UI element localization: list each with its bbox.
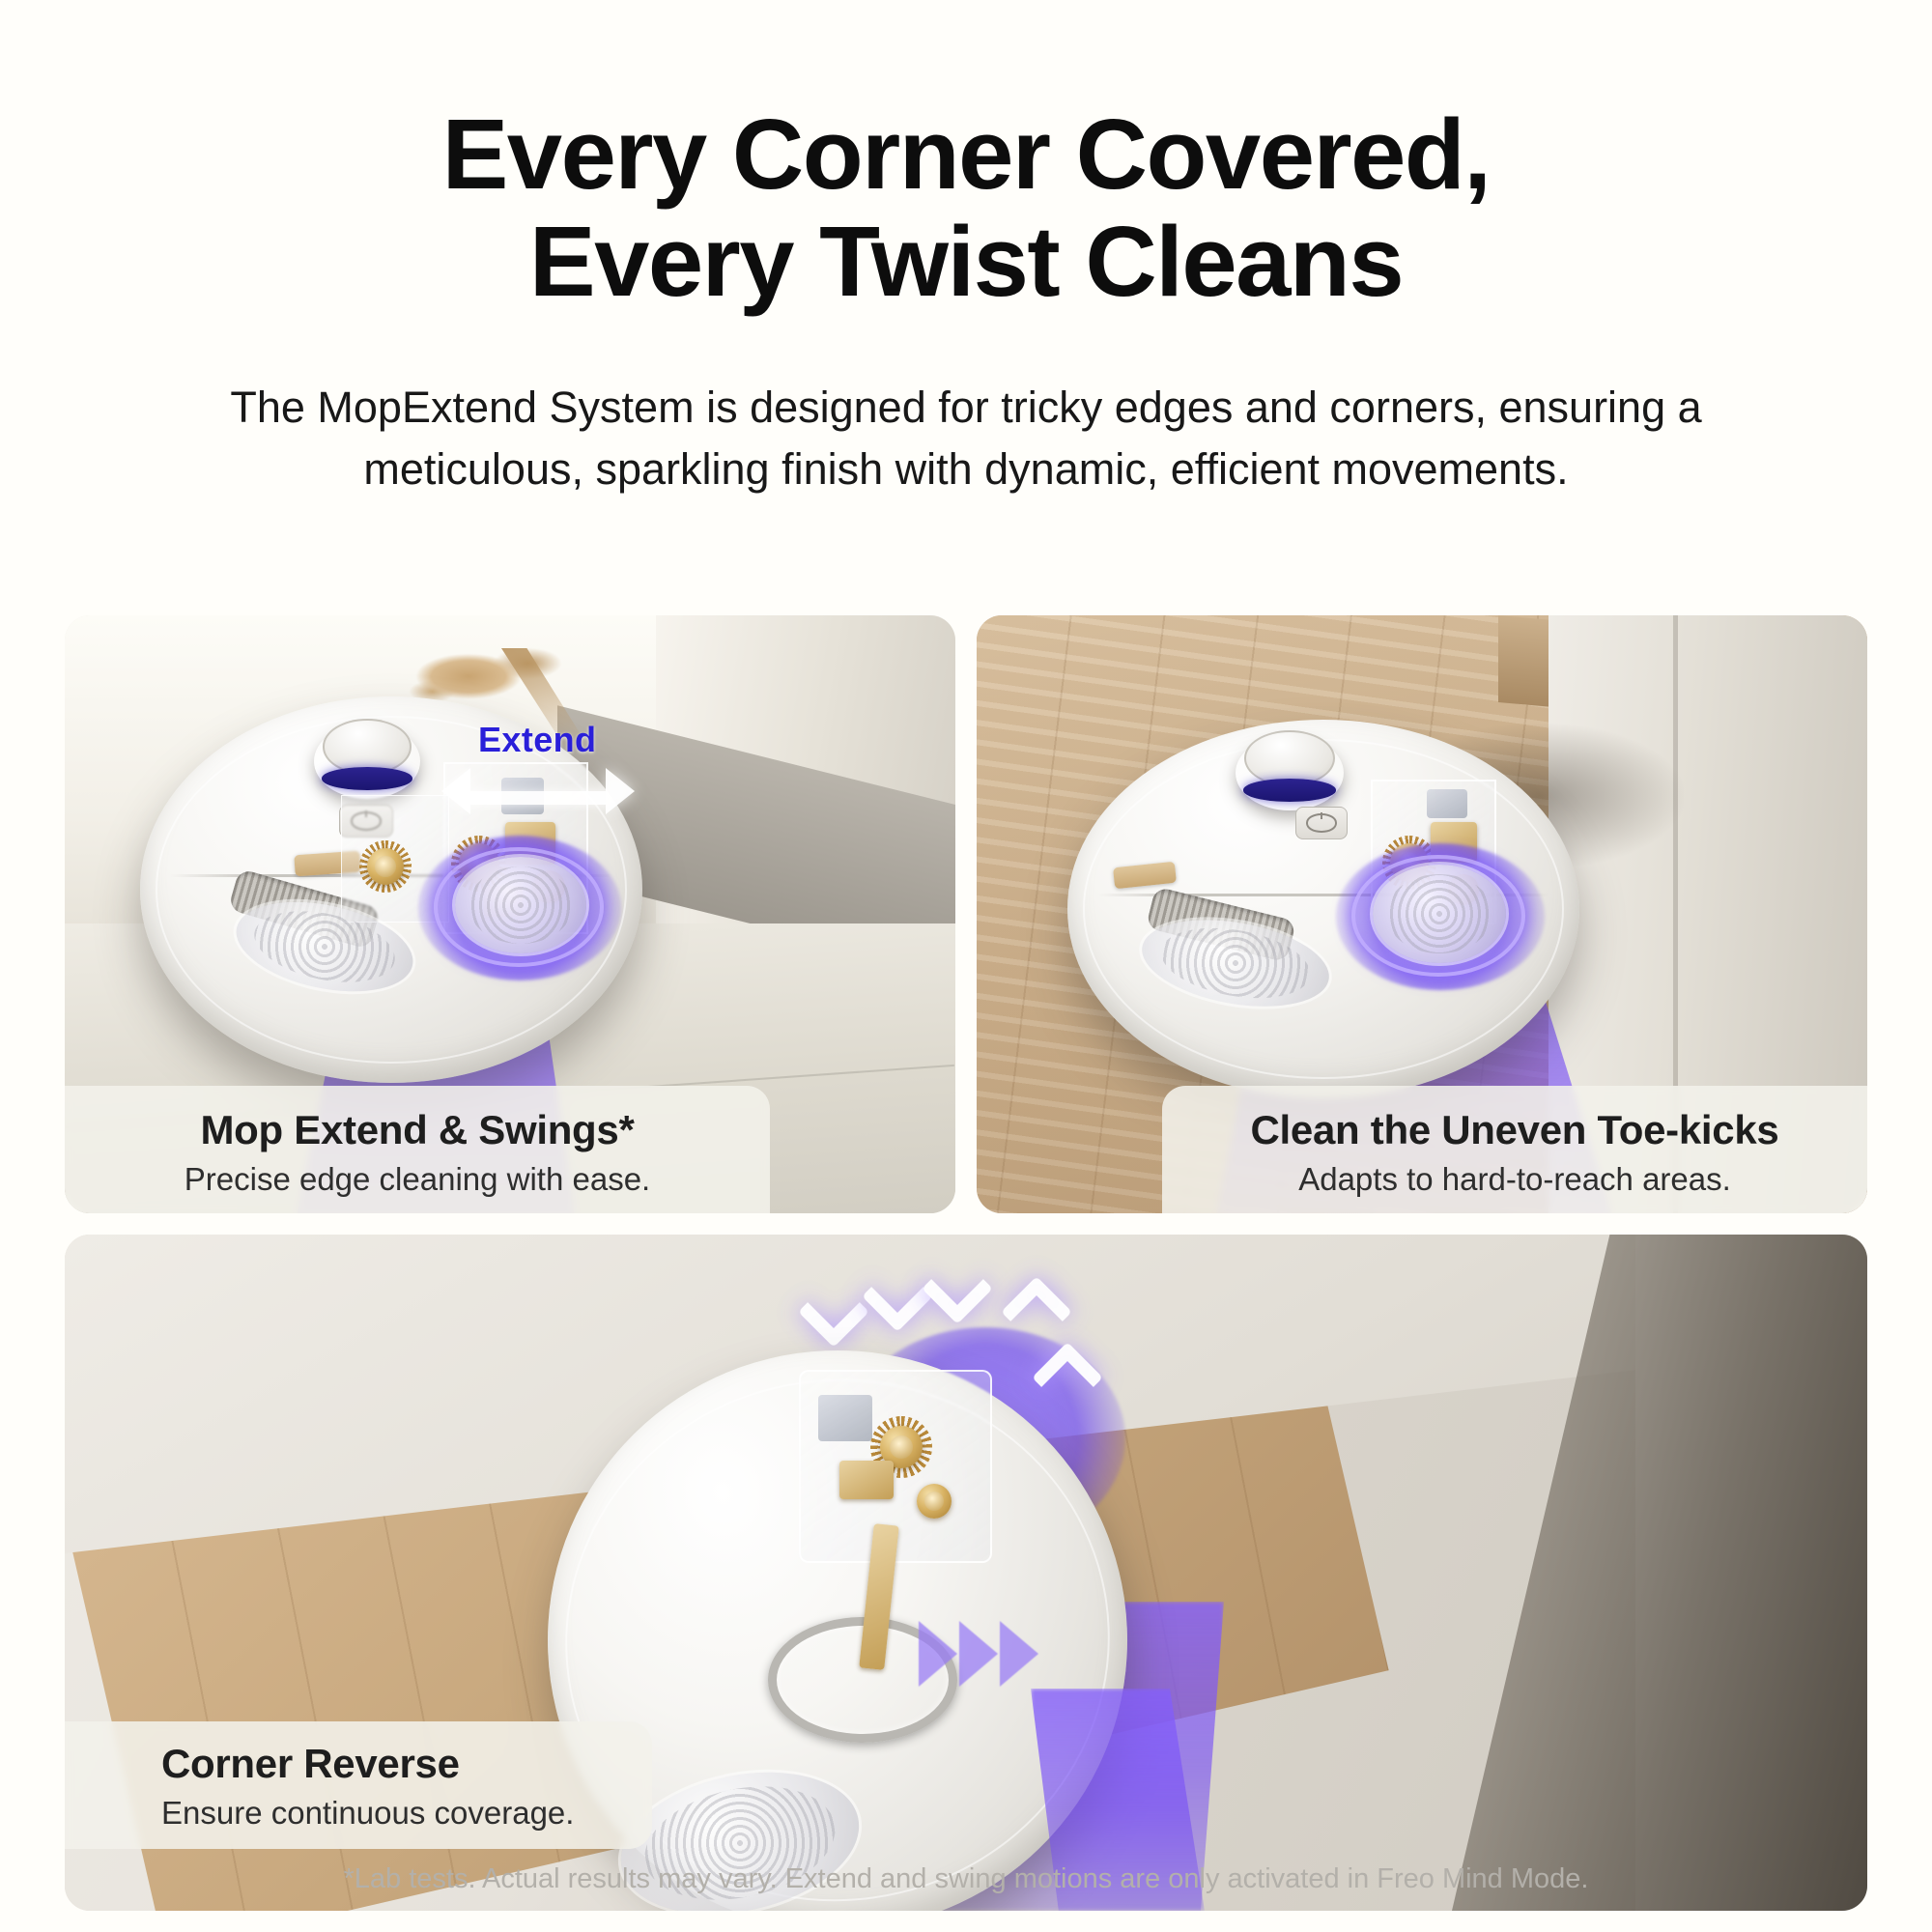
mop-pad-texture (1386, 874, 1492, 953)
footnote-disclaimer: *Lab tests. Actual results may vary. Ext… (0, 1863, 1932, 1895)
caption-title: Corner Reverse (161, 1721, 652, 1787)
mechanism-block (839, 1461, 894, 1499)
product-feature-page: Every Corner Covered, Every Twist Cleans… (0, 0, 1932, 1932)
subtitle-line-1: The MopExtend System is designed for tri… (230, 383, 1701, 432)
card-caption-corner-reverse: Corner Reverse Ensure continuous coverag… (65, 1721, 652, 1849)
caption-subtitle: Ensure continuous coverage. (161, 1787, 652, 1832)
headline-line-2: Every Twist Cleans (0, 208, 1932, 315)
arrow-head-right (606, 768, 635, 814)
caption-subtitle: Precise edge cleaning with ease. (65, 1153, 770, 1198)
headline-line-1: Every Corner Covered, (442, 99, 1491, 210)
feature-card-grid: Extend Mop Extend & Swings* Precise edge… (65, 615, 1867, 1911)
page-subtitle: The MopExtend System is designed for tri… (116, 377, 1816, 500)
direction-arrow-icon (919, 1621, 957, 1687)
arrow-shaft (470, 791, 606, 806)
lidar-icon (314, 724, 420, 799)
direction-arrow-icon (1000, 1621, 1038, 1687)
card-caption-mop-extend-swings: Mop Extend & Swings* Precise edge cleani… (65, 1086, 770, 1213)
mop-pad (1373, 865, 1506, 963)
power-button-icon[interactable] (1295, 807, 1348, 839)
subtitle-line-2: meticulous, sparkling finish with dynami… (116, 439, 1816, 500)
caption-title: Mop Extend & Swings* (65, 1086, 770, 1153)
mechanism-housing (818, 1395, 872, 1441)
gear-icon (917, 1484, 952, 1519)
lidar-blue-ring (322, 767, 413, 789)
mop-pad-texture (469, 867, 574, 944)
direction-arrow-icon (959, 1621, 998, 1687)
mechanism-housing (1427, 789, 1467, 818)
arrow-head-left (441, 768, 470, 814)
page-title: Every Corner Covered, Every Twist Cleans (0, 0, 1932, 315)
gear-icon (367, 848, 404, 885)
card-caption-clean-uneven-toe-kicks: Clean the Uneven Toe-kicks Adapts to har… (1162, 1086, 1867, 1213)
feature-card-row-top: Extend Mop Extend & Swings* Precise edge… (65, 615, 1867, 1213)
extend-label: Extend (478, 720, 596, 760)
mop-pad (455, 857, 586, 953)
feature-card-corner-reverse[interactable]: Corner Reverse Ensure continuous coverag… (65, 1235, 1867, 1911)
feature-card-clean-uneven-toe-kicks[interactable]: Clean the Uneven Toe-kicks Adapts to har… (977, 615, 1867, 1213)
lidar-icon (1236, 735, 1344, 810)
caption-title: Clean the Uneven Toe-kicks (1162, 1086, 1867, 1153)
lidar-blue-ring (1243, 779, 1336, 801)
caption-subtitle: Adapts to hard-to-reach areas. (1162, 1153, 1867, 1198)
extend-arrow-icon (441, 768, 635, 828)
feature-card-mop-extend-swings[interactable]: Extend Mop Extend & Swings* Precise edge… (65, 615, 955, 1213)
